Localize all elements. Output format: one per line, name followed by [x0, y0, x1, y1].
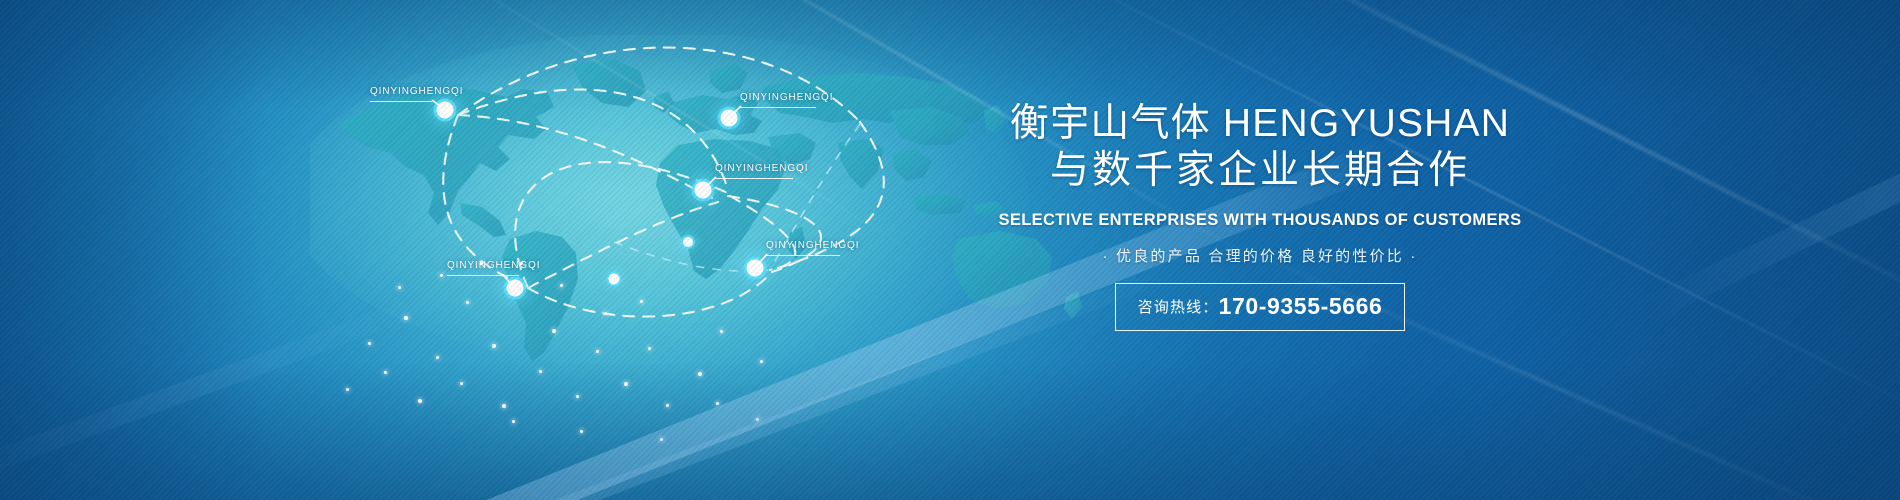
headline-line-2: 与数千家企业长期合作 — [930, 147, 1590, 194]
diagonal-ribbon — [1640, 72, 1900, 323]
hero-text-block: 衡宇山气体 HENGYUSHAN 与数千家企业长期合作 SELECTIVE EN… — [930, 100, 1590, 331]
subtitle-english: SELECTIVE ENTERPRISES WITH THOUSANDS OF … — [930, 211, 1590, 230]
light-streak — [429, 0, 910, 250]
headline-line-1: 衡宇山气体 HENGYUSHAN — [930, 100, 1590, 147]
tagline-chinese: · 优良的产品 合理的价格 良好的性价比 · — [930, 245, 1590, 266]
hero-banner: QINYINGHENGQI QINYINGHENGQI QINYINGHENGQ… — [0, 0, 1900, 500]
hotline-label: 咨询热线： — [1138, 299, 1219, 316]
hotline-box[interactable]: 咨询热线：170-9355-5666 — [1115, 283, 1406, 331]
diagonal-ribbon — [0, 278, 473, 488]
hotline-number: 170-9355-5666 — [1219, 293, 1383, 319]
